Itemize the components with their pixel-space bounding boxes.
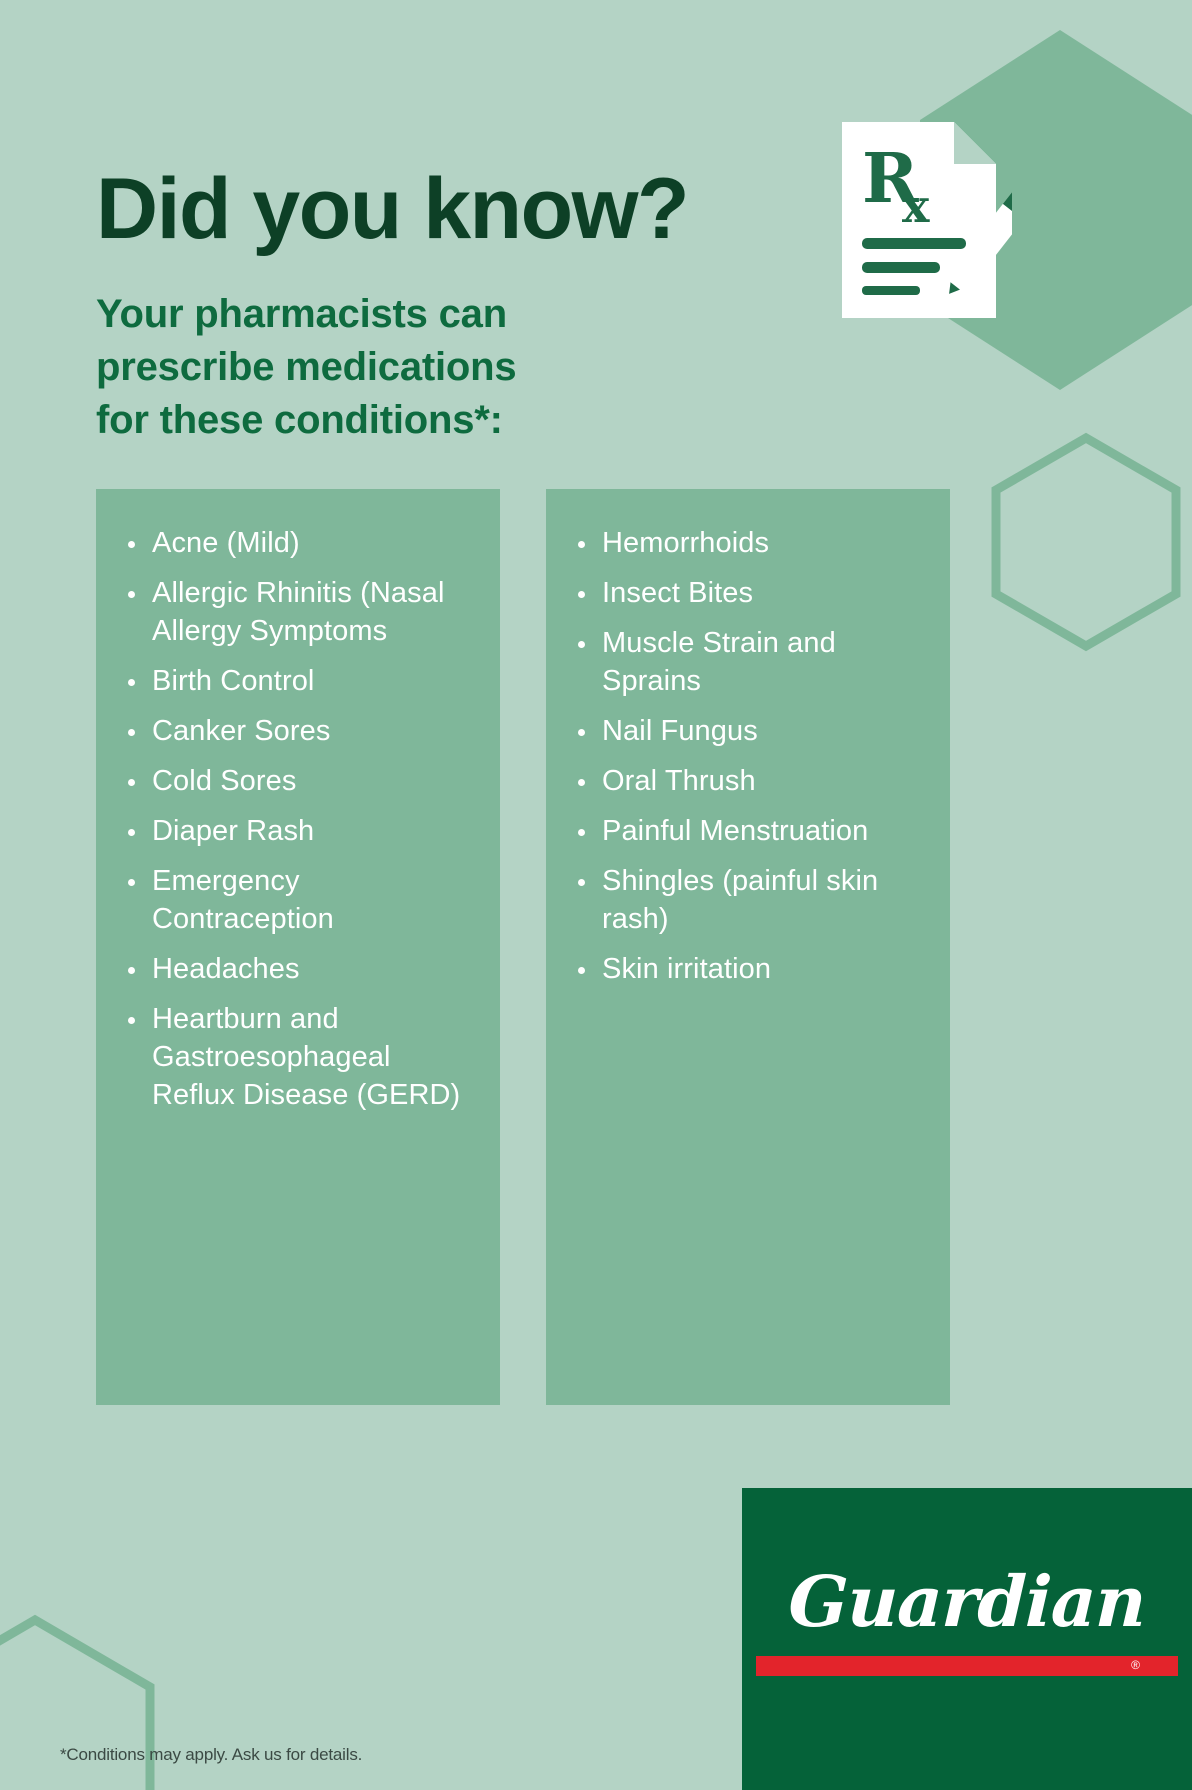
subtitle-line-3: for these conditions*: bbox=[96, 394, 516, 447]
guardian-logo: Guardian ® bbox=[742, 1488, 1192, 1790]
prescription-document-pen-icon: R x bbox=[836, 118, 1012, 328]
list-item: Birth Control bbox=[118, 663, 478, 701]
conditions-list-right: Hemorrhoids Insect Bites Muscle Strain a… bbox=[568, 525, 928, 989]
list-item: Diaper Rash bbox=[118, 813, 478, 851]
subtitle-line-1: Your pharmacists can bbox=[96, 288, 516, 341]
list-item: Muscle Strain and Sprains bbox=[568, 625, 928, 701]
hexagon-decoration-right-outline bbox=[976, 430, 1192, 660]
list-item: Painful Menstruation bbox=[568, 813, 928, 851]
list-item: Allergic Rhinitis (Nasal Allergy Symptom… bbox=[118, 575, 478, 651]
svg-text:x: x bbox=[902, 179, 930, 233]
conditions-panel-right: Hemorrhoids Insect Bites Muscle Strain a… bbox=[546, 489, 950, 1405]
list-item: Emergency Contraception bbox=[118, 863, 478, 939]
list-item: Canker Sores bbox=[118, 713, 478, 751]
guardian-logo-wordmark: Guardian bbox=[741, 1560, 1192, 1643]
list-item: Acne (Mild) bbox=[118, 525, 478, 563]
list-item: Skin irritation bbox=[568, 951, 928, 989]
conditions-list-left: Acne (Mild) Allergic Rhinitis (Nasal All… bbox=[118, 525, 478, 1115]
list-item: Cold Sores bbox=[118, 763, 478, 801]
list-item: Headaches bbox=[118, 951, 478, 989]
subtitle-line-2: prescribe medications bbox=[96, 341, 516, 394]
list-item: Nail Fungus bbox=[568, 713, 928, 751]
list-item: Shingles (painful skin rash) bbox=[568, 863, 928, 939]
page-title: Did you know? bbox=[96, 166, 688, 252]
list-item: Insect Bites bbox=[568, 575, 928, 613]
conditions-panel-left: Acne (Mild) Allergic Rhinitis (Nasal All… bbox=[96, 489, 500, 1405]
list-item: Heartburn and Gastroesophageal Reflux Di… bbox=[118, 1001, 478, 1115]
disclaimer-text: *Conditions may apply. Ask us for detail… bbox=[60, 1745, 362, 1765]
list-item: Hemorrhoids bbox=[568, 525, 928, 563]
registered-trademark-icon: ® bbox=[1131, 1658, 1140, 1672]
page-subtitle: Your pharmacists can prescribe medicatio… bbox=[96, 288, 516, 448]
guardian-logo-red-bar bbox=[756, 1656, 1178, 1676]
poster-canvas: Did you know? Your pharmacists can presc… bbox=[0, 0, 1192, 1790]
list-item: Oral Thrush bbox=[568, 763, 928, 801]
